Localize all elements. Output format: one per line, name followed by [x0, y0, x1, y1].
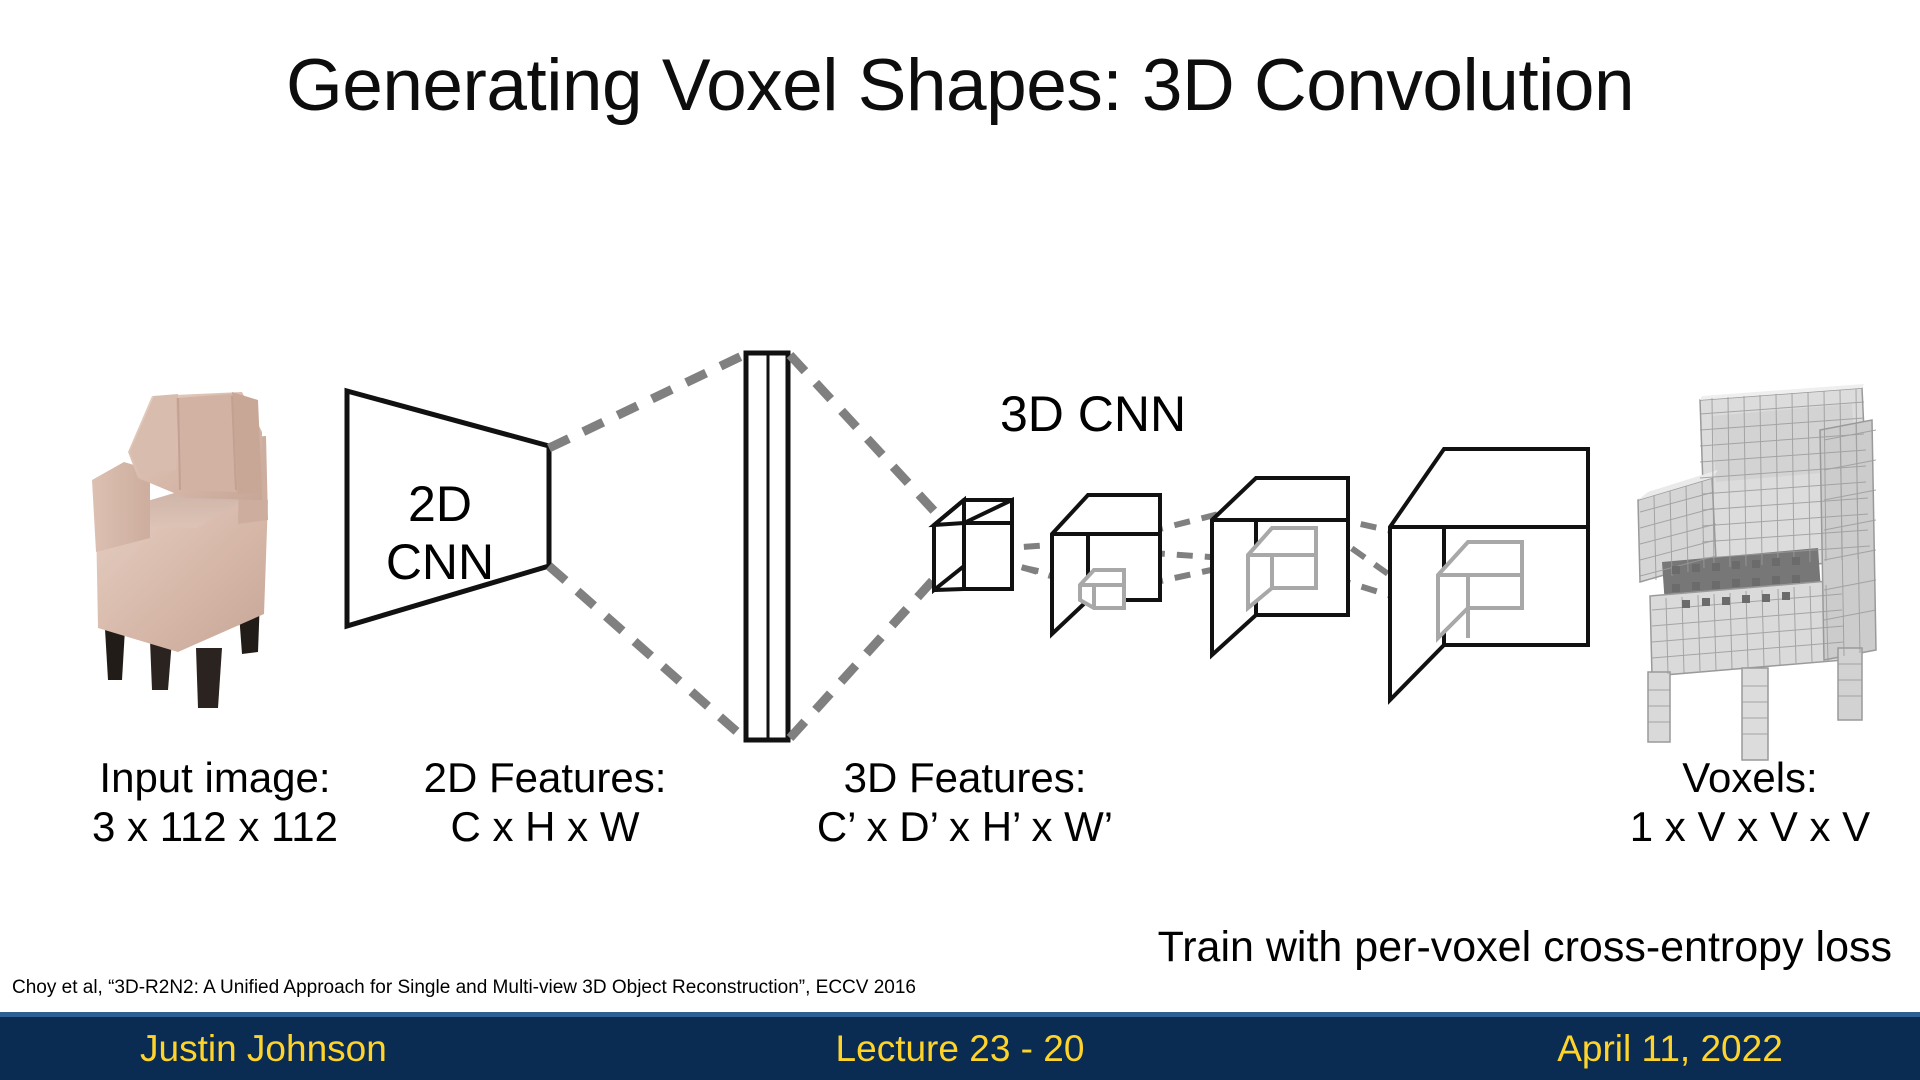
- caption-3d-features-line2: C’ x D’ x H’ x W’: [720, 802, 1210, 851]
- caption-voxels-line2: 1 x V x V x V: [1580, 802, 1920, 851]
- receptive-field-connectors: [968, 506, 1462, 618]
- caption-2d-features: 2D Features: C x H x W: [350, 753, 740, 851]
- citation: Choy et al, “3D-R2N2: A Unified Approach…: [12, 977, 916, 999]
- kernel-cube-4: [1438, 542, 1522, 638]
- architecture-diagram: [0, 0, 1920, 1080]
- volume-cube-1-outline: [934, 500, 1012, 590]
- slide-footer: Justin Johnson Lecture 23 - 20 April 11,…: [0, 1012, 1920, 1080]
- page-title: Generating Voxel Shapes: 3D Convolution: [0, 44, 1920, 127]
- volume-cube-4: [1390, 449, 1588, 700]
- kernel-cube-2: [1080, 570, 1124, 608]
- caption-input-image: Input image: 3 x 112 x 112: [30, 753, 400, 851]
- caption-input-image-line2: 3 x 112 x 112: [30, 802, 400, 851]
- output-voxel-chair: [1638, 384, 1876, 760]
- caption-voxels-line1: Voxels:: [1580, 753, 1920, 802]
- feature-volume-bar: [746, 353, 788, 740]
- connector-2d-to-3d: [549, 355, 744, 738]
- volume-cube-1: [934, 500, 1012, 590]
- cnn3d-heading: 3D CNN: [1000, 385, 1186, 443]
- volume-cube-3: [1212, 478, 1348, 655]
- caption-2d-features-line1: 2D Features:: [350, 753, 740, 802]
- caption-3d-features-line1: 3D Features:: [720, 753, 1210, 802]
- input-chair-photo: [92, 392, 268, 708]
- loss-note: Train with per-voxel cross-entropy loss: [1158, 923, 1892, 972]
- volume-cube-2: [1052, 495, 1160, 634]
- caption-3d-features: 3D Features: C’ x D’ x H’ x W’: [720, 753, 1210, 851]
- encoder-label: 2D CNN: [345, 475, 535, 591]
- connector-bar-to-cube: [790, 355, 935, 738]
- kernel-cube-3: [1248, 528, 1316, 608]
- encoder-label-line1: 2D: [345, 475, 535, 533]
- caption-voxels: Voxels: 1 x V x V x V: [1580, 753, 1920, 851]
- caption-input-image-line1: Input image:: [30, 753, 400, 802]
- encoder-label-line2: CNN: [345, 533, 535, 591]
- footer-date: April 11, 2022: [1420, 1028, 1920, 1070]
- caption-2d-features-line2: C x H x W: [350, 802, 740, 851]
